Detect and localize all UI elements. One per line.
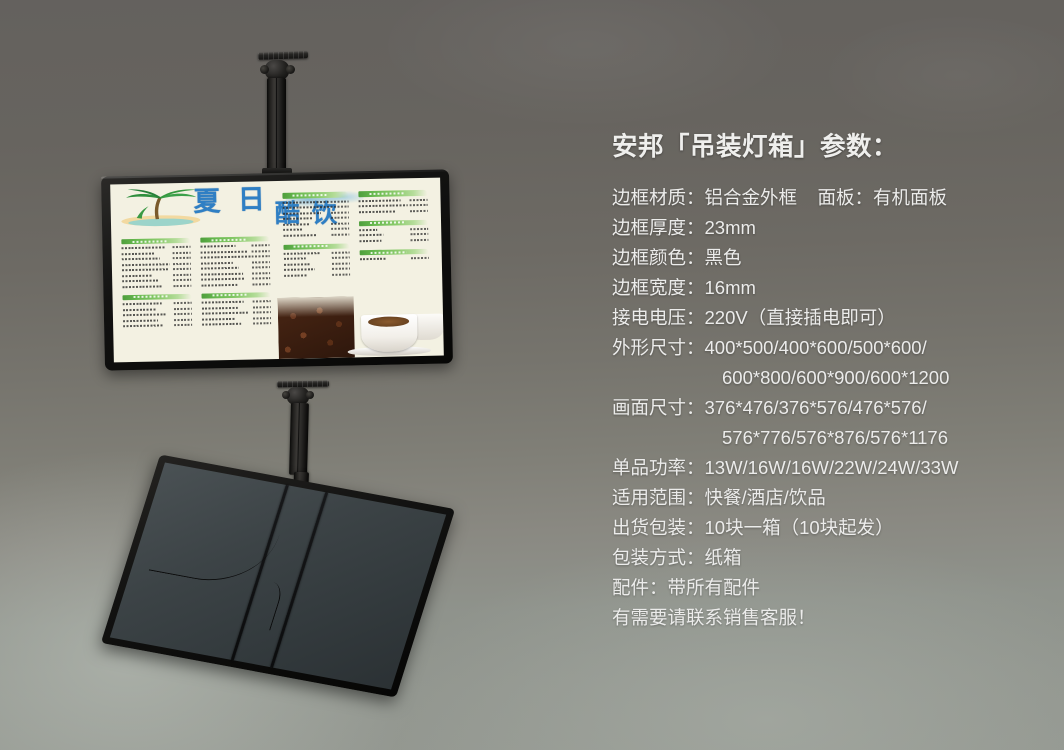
lightbox-menu-panel: 夏 日 酷 饮 xyxy=(110,178,444,363)
menu-title-char-2: 日 xyxy=(237,186,265,214)
menu-column-right-inner xyxy=(282,192,350,281)
menu-item-row xyxy=(122,284,191,290)
menu-section-banner xyxy=(358,190,427,197)
spec-voltage: 接电电压：220V（直接插电即可） xyxy=(612,303,1036,333)
menu-item-rows xyxy=(202,299,272,326)
menu-item-row xyxy=(359,256,428,262)
lightbox-front-unit[interactable]: 夏 日 酷 饮 xyxy=(101,169,453,370)
menu-section xyxy=(282,192,349,238)
menu-column-middle xyxy=(200,236,271,329)
menu-section-banner xyxy=(359,249,428,256)
specification-panel: 安邦「吊装灯箱」参数： 边框材质：铝合金外框 面板：有机面板边框厚度：23mm边… xyxy=(612,126,1036,633)
menu-item-row xyxy=(284,267,350,272)
menu-section xyxy=(359,249,429,262)
spec-application: 适用范围：快餐/酒店/饮品 xyxy=(612,483,1036,513)
menu-item-row xyxy=(283,221,349,226)
menu-section-banner xyxy=(283,243,349,250)
menu-item-row xyxy=(123,323,192,329)
menu-item-rows xyxy=(282,199,349,237)
swivel-knob-top xyxy=(260,65,269,74)
menu-section-banner xyxy=(358,220,427,227)
menu-item-row xyxy=(283,227,349,232)
menu-section xyxy=(122,294,192,329)
lightbox-aluminum-frame: 夏 日 酷 饮 xyxy=(101,169,453,370)
menu-item-row xyxy=(282,199,348,204)
spec-outer-size-cont: 600*800/600*900/600*1200 xyxy=(612,363,1036,393)
spec-picture-size-cont: 576*776/576*876/576*1176 xyxy=(612,423,1036,453)
lightbox-back-panel xyxy=(110,463,446,690)
telescoping-pole-top xyxy=(267,78,286,176)
menu-section xyxy=(283,243,350,278)
menu-column-right-outer xyxy=(358,190,429,264)
spec-power: 单品功率：13W/16W/16W/22W/24W/33W xyxy=(612,453,1036,483)
menu-item-row xyxy=(358,208,427,214)
pole-seam xyxy=(297,403,300,475)
menu-section xyxy=(358,190,428,214)
plate-mounting-holes xyxy=(258,51,308,60)
spec-outer-size: 外形尺寸：400*500/400*600/500*600/ xyxy=(612,333,1036,363)
menu-section xyxy=(121,238,191,289)
menu-item-row xyxy=(283,261,349,266)
menu-item-rows xyxy=(359,227,429,244)
menu-section-banner xyxy=(122,294,191,301)
spec-package-type: 包装方式：纸箱 xyxy=(612,543,1036,573)
pole-seam xyxy=(276,78,277,176)
swivel-knob-bottom-right xyxy=(306,391,314,399)
menu-section-banner xyxy=(200,236,269,243)
menu-item-rows xyxy=(123,301,193,328)
coffee-photo xyxy=(278,295,444,359)
menu-item-row xyxy=(283,256,349,261)
ceiling-plate-top xyxy=(258,51,308,60)
telescoping-pole-bottom xyxy=(289,403,309,475)
menu-item-row xyxy=(282,205,348,210)
product-photo-stage: 夏 日 酷 饮 xyxy=(0,0,1064,750)
menu-title-char-1: 夏 xyxy=(193,188,221,216)
menu-column-left xyxy=(121,238,192,331)
lightbox-back-unit[interactable] xyxy=(101,454,455,697)
spec-frame-thickness: 边框厚度：23mm xyxy=(612,213,1036,243)
swivel-knob-top-right xyxy=(286,65,295,74)
menu-item-rows xyxy=(283,250,350,277)
spec-line-list: 边框材质：铝合金外框 面板：有机面板边框厚度：23mm边框颜色：黑色边框宽度：1… xyxy=(612,183,1036,633)
menu-item-rows xyxy=(358,197,428,214)
menu-item-row xyxy=(282,216,348,221)
spec-panel-title: 安邦「吊装灯箱」参数： xyxy=(612,126,1036,163)
menu-item-row xyxy=(201,282,270,288)
menu-item-row xyxy=(283,250,349,255)
menu-section xyxy=(200,236,270,287)
menu-item-row xyxy=(284,272,350,277)
menu-item-rows xyxy=(359,256,428,262)
menu-section xyxy=(202,292,272,327)
spec-picture-size: 画面尺寸：376*476/376*576/476*576/ xyxy=(612,393,1036,423)
swivel-knob-bottom-left xyxy=(282,391,290,399)
photo-fade-overlay xyxy=(278,295,444,359)
menu-item-row xyxy=(202,321,271,327)
spec-frame-material: 边框材质：铝合金外框 面板：有机面板 xyxy=(612,183,1036,213)
menu-section xyxy=(358,220,428,244)
spec-frame-color: 边框颜色：黑色 xyxy=(612,243,1036,273)
lightbox-back-frame xyxy=(101,454,455,697)
spec-contact-note: 有需要请联系销售客服！ xyxy=(612,603,1036,633)
power-cable xyxy=(149,476,291,591)
power-cable-segment xyxy=(242,579,284,630)
spec-frame-width: 边框宽度：16mm xyxy=(612,273,1036,303)
menu-item-rows xyxy=(201,244,271,288)
menu-section-banner xyxy=(282,192,348,199)
spec-accessories: 配件：带所有配件 xyxy=(612,573,1036,603)
menu-item-row xyxy=(282,210,348,215)
menu-section-banner xyxy=(121,238,190,245)
menu-item-row xyxy=(283,232,349,237)
menu-section-banner xyxy=(202,292,271,299)
menu-item-rows xyxy=(121,245,191,289)
menu-item-row xyxy=(359,238,428,244)
spec-shipping-package: 出货包装：10块一箱（10块起发） xyxy=(612,513,1036,543)
